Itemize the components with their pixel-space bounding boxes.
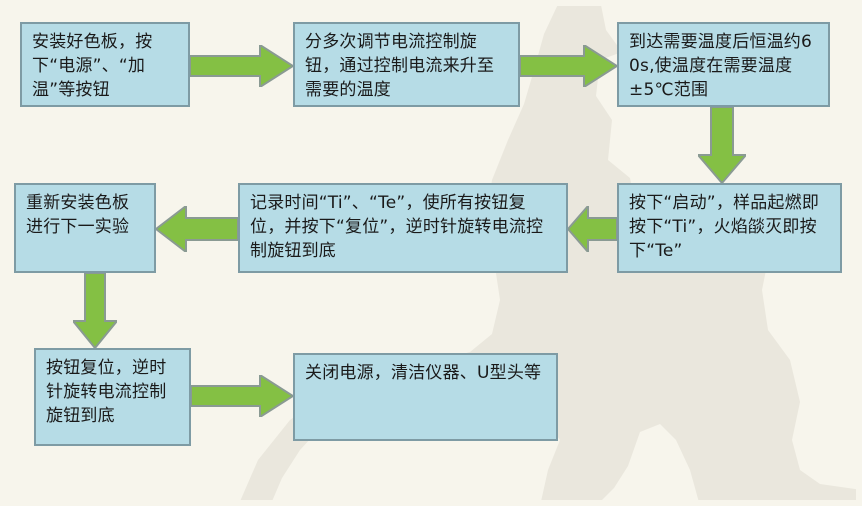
arrow-record-to-reinstall — [156, 206, 238, 252]
flow-node-record-times: 记录时间“Ti”、“Te”，使所有按钮复位，并按下“复位”，逆时针旋转电流控制旋… — [238, 183, 568, 273]
flow-node-install-plate: 安装好色板，按下“电源”、“加温”等按钮 — [20, 22, 190, 107]
arrow-adjust-to-hold — [520, 45, 617, 87]
flow-node-adjust-current: 分多次调节电流控制旋钮，通过控制电流来升至需要的温度 — [293, 22, 520, 107]
flow-node-press-start: 按下“启动”，样品起燃即按下“Ti”，火焰燄灭即按下“Te” — [617, 183, 842, 273]
arrow-install-to-adjust — [190, 45, 293, 87]
arrow-reinstall-to-reset — [73, 273, 117, 348]
arrow-reset-to-poweroff — [191, 375, 293, 417]
flow-node-reset-buttons: 按钮复位，逆时针旋转电流控制旋钮到底 — [34, 348, 191, 446]
flow-node-power-off-clean: 关闭电源，清洁仪器、U型头等 — [293, 353, 558, 441]
arrow-start-to-record — [568, 206, 617, 252]
arrow-hold-to-start — [698, 107, 746, 183]
flow-node-reinstall-plate: 重新安装色板进行下一实验 — [14, 183, 156, 273]
flowchart-canvas: 安装好色板，按下“电源”、“加温”等按钮 分多次调节电流控制旋钮，通过控制电流来… — [0, 0, 862, 506]
flow-node-hold-temperature: 到达需要温度后恒温约60s,使温度在需要温度±5℃范围 — [617, 22, 830, 107]
